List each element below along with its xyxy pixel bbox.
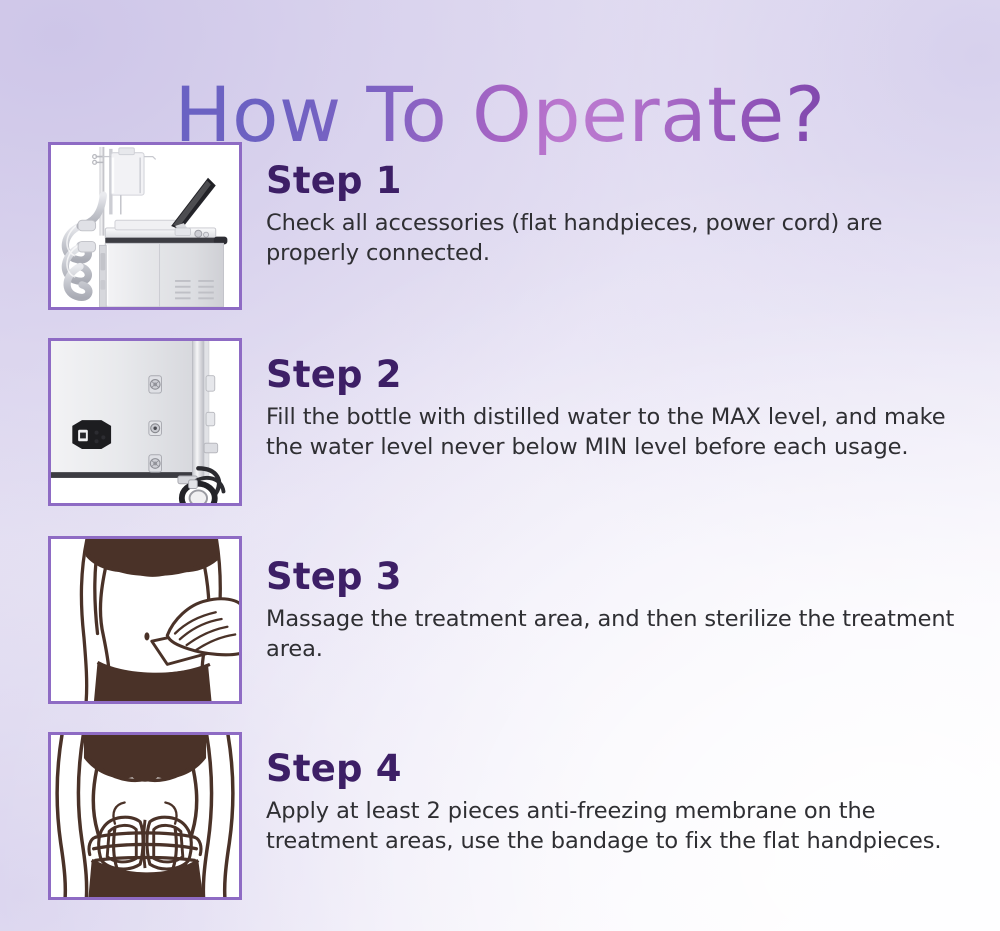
step-4-body: Apply at least 2 pieces anti-freezing me… bbox=[266, 797, 956, 857]
step-4-text: Step 4 Apply at least 2 pieces anti-free… bbox=[242, 732, 1000, 857]
machine-front-with-bottle-and-screen-image bbox=[51, 145, 239, 307]
step-item-4: Step 4 Apply at least 2 pieces anti-free… bbox=[0, 732, 1000, 900]
step-2-heading: Step 2 bbox=[266, 354, 956, 395]
step-1-text: Step 1 Check all accessories (flat handp… bbox=[242, 142, 1000, 269]
step-3-image-frame bbox=[48, 536, 242, 704]
step-4-image-frame bbox=[48, 732, 242, 900]
step-2-image-frame bbox=[48, 338, 242, 506]
machine-front-illustration bbox=[51, 145, 239, 307]
navel bbox=[144, 632, 149, 640]
step-item-3: Step 3 Massage the treatment area, and t… bbox=[0, 536, 1000, 704]
machine-rear-illustration bbox=[51, 341, 239, 503]
step-1-body: Check all accessories (flat handpieces, … bbox=[266, 209, 956, 269]
step-2-text: Step 2 Fill the bottle with distilled wa… bbox=[242, 338, 1000, 463]
step-1-heading: Step 1 bbox=[266, 160, 956, 201]
step-3-body: Massage the treatment area, and then ste… bbox=[266, 605, 956, 665]
poster-background: How To Operate? bbox=[0, 0, 1000, 931]
torso-hand-sterilizing-abdomen-image bbox=[51, 539, 239, 701]
step-2-body: Fill the bottle with distilled water to … bbox=[266, 403, 956, 463]
step-3-heading: Step 3 bbox=[266, 556, 956, 597]
torso-with-two-handpieces-strapped-image bbox=[51, 735, 239, 897]
step-item-1: Step 1 Check all accessories (flat handp… bbox=[0, 142, 1000, 310]
torso-handpieces-illustration bbox=[51, 735, 239, 897]
step-item-2: Step 2 Fill the bottle with distilled wa… bbox=[0, 338, 1000, 506]
machine-rear-panel-with-power-socket-image bbox=[51, 341, 239, 503]
torso-massage-illustration bbox=[51, 539, 239, 701]
step-1-image-frame bbox=[48, 142, 242, 310]
step-3-text: Step 3 Massage the treatment area, and t… bbox=[242, 536, 1000, 665]
step-4-heading: Step 4 bbox=[266, 748, 956, 789]
